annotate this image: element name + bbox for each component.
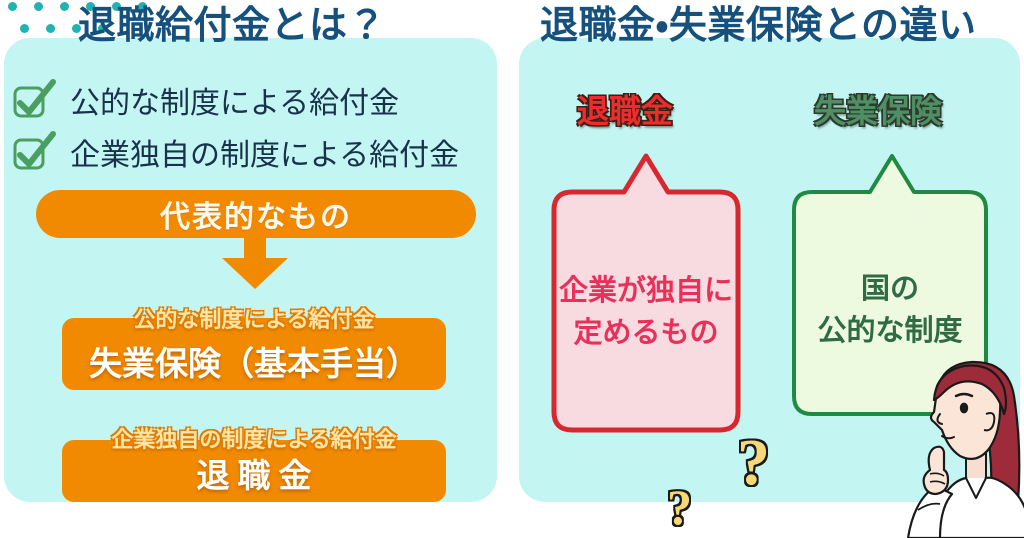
- thinking-woman-illustration: [890, 352, 1024, 538]
- left-panel-title: 退職給付金とは？: [78, 4, 386, 48]
- result-box-sub-label: 企業独自の制度による給付金: [62, 422, 446, 454]
- speech-bubble-retirement-allowance: 企業が独自に 定めるもの: [534, 150, 758, 440]
- arrow-down-icon: [216, 232, 294, 290]
- result-box-sub-label: 公的な制度による給付金: [62, 302, 446, 334]
- checkbox-check-icon: [12, 78, 56, 122]
- decor-dot: [20, 24, 29, 33]
- speech-bubble-text: 企業が独自に 定めるもの: [534, 270, 758, 354]
- result-box-main-label: 退職金: [189, 454, 320, 498]
- result-box-retirement-allowance: 企業独自の制度による給付金 退職金: [62, 440, 446, 502]
- right-panel-title: 退職金・失業保険との違い: [540, 4, 977, 48]
- comparison-badge-unemployment-insurance: 失業保険: [814, 86, 942, 132]
- decor-dot: [46, 24, 55, 33]
- question-mark-large-icon: ?: [737, 430, 770, 496]
- comparison-badge-retirement-allowance: 退職金: [577, 86, 673, 132]
- representative-pill: 代表的なもの: [36, 190, 476, 238]
- decor-dot: [8, 2, 17, 11]
- result-box-unemployment-insurance: 公的な制度による給付金 失業保険（基本手当）: [62, 318, 446, 390]
- checklist-item-label: 公的な制度による給付金: [70, 78, 399, 122]
- result-box-main-label: 失業保険（基本手当）: [89, 342, 419, 386]
- checklist-item-label: 企業独自の制度による給付金: [70, 130, 459, 174]
- checklist-item: 公的な制度による給付金: [12, 78, 399, 122]
- checkbox-check-icon: [12, 130, 56, 174]
- speech-bubble-text: 国の 公的な制度: [774, 268, 1006, 352]
- representative-pill-label: 代表的なもの: [160, 192, 352, 236]
- infographic-canvas: 退職給付金とは？ 公的な制度による給付金 企業独自の制度による給付金 代表的なも…: [0, 0, 1024, 538]
- decor-dot: [34, 2, 43, 11]
- question-mark-small-icon: ?: [667, 482, 692, 532]
- decor-dot: [60, 2, 69, 11]
- checklist-item: 企業独自の制度による給付金: [12, 130, 459, 174]
